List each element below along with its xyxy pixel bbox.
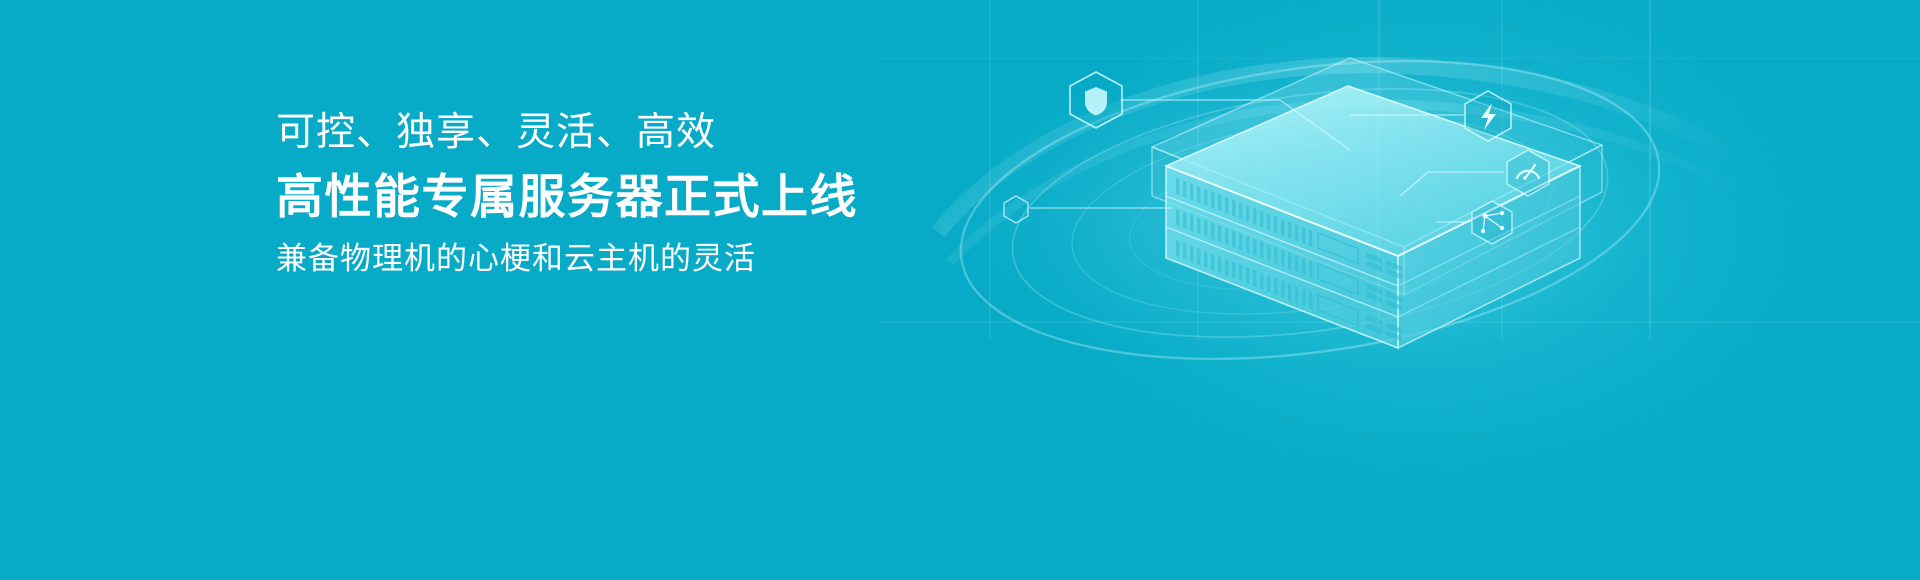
banner-subline: 兼备物理机的心梗和云主机的灵活 bbox=[276, 239, 1036, 279]
promo-banner: 可控、独享、灵活、高效 高性能专属服务器正式上线 兼备物理机的心梗和云主机的灵活 bbox=[0, 0, 1920, 580]
light-shafts bbox=[1378, 0, 1650, 330]
server-chassis bbox=[1166, 86, 1580, 348]
banner-eyebrow: 可控、独享、灵活、高效 bbox=[276, 108, 1036, 158]
node-network bbox=[1472, 201, 1512, 244]
drive-bays bbox=[1318, 233, 1402, 343]
vent-slats bbox=[1176, 178, 1312, 309]
node-bolt bbox=[1465, 91, 1511, 141]
connector-lines bbox=[1030, 100, 1504, 222]
node-shield bbox=[1070, 72, 1122, 128]
server-ghost-shell bbox=[1152, 58, 1602, 295]
banner-headline: 高性能专属服务器正式上线 bbox=[276, 166, 1036, 227]
server-illustration bbox=[880, 0, 1920, 580]
node-gauge bbox=[1507, 150, 1549, 196]
background-glow bbox=[880, 0, 1920, 580]
light-ribbons bbox=[938, 65, 1820, 262]
perspective-grid bbox=[880, 0, 1920, 340]
orbit-rings bbox=[942, 20, 1679, 399]
banner-copy: 可控、独享、灵活、高效 高性能专属服务器正式上线 兼备物理机的心梗和云主机的灵活 bbox=[276, 108, 1036, 279]
